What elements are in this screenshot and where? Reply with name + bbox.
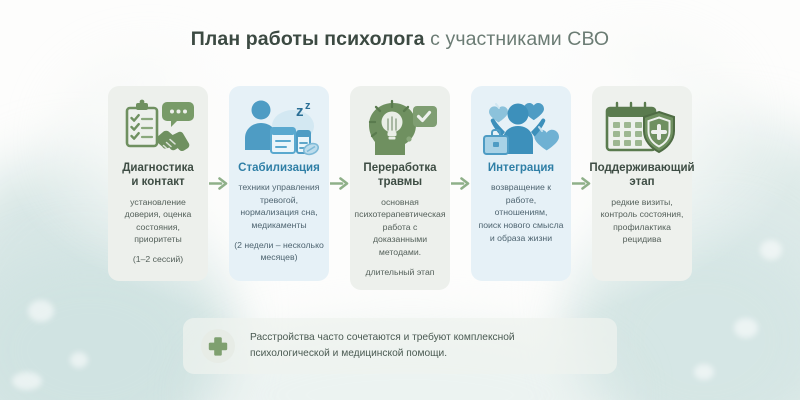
footer-note-line1: Расстройства часто сочетаются и требуют … <box>250 330 515 346</box>
svg-text:z: z <box>296 103 304 120</box>
arrow-right-icon <box>208 86 229 281</box>
calendar-shield-plus-icon <box>596 96 688 158</box>
stage-card-description: возвращение к работе,отношениям,поиск но… <box>476 181 566 244</box>
stage-card-title: Стабилизация <box>237 161 321 175</box>
page-title: План работы психолога с участниками СВО <box>0 28 800 51</box>
stage-card-description: установлениедоверия, оценкасостояния, пр… <box>113 196 203 246</box>
stage-card-row: Диагностикаи контакт установлениедоверия… <box>108 86 694 291</box>
stage-card-note: длительный этап <box>366 266 435 279</box>
footer-note-banner: Расстройства часто сочетаются и требуют … <box>183 318 617 374</box>
clipboard-checklist-handshake-icon <box>112 96 204 158</box>
stage-card-description: техники управлениятревогой,нормализация … <box>238 181 321 231</box>
head-lightbulb-check-icon <box>354 96 446 158</box>
stage-card-title: Переработкатравмы <box>362 161 437 190</box>
stage-card-diagnostika[interactable]: Диагностикаи контакт установлениедоверия… <box>108 86 208 281</box>
stage-card-note: (2 недели – несколькомесяцев) <box>234 239 324 264</box>
svg-text:z: z <box>305 100 311 112</box>
footer-note-text: Расстройства часто сочетаются и требуют … <box>250 330 515 362</box>
stage-card-pererabotka-travmy[interactable]: Переработкатравмы основнаяпсихотерапевти… <box>350 86 450 290</box>
person-arms-up-hearts-briefcase-icon <box>475 96 567 158</box>
footer-note-line2: психологической и медицинской помощи. <box>250 346 515 362</box>
arrow-right-icon <box>329 86 350 281</box>
page-title-strong: План работы психолога <box>191 28 425 50</box>
stage-card-podderzhivayushchiy-etap[interactable]: Поддерживающийэтап редкие визиты,контрол… <box>592 86 692 281</box>
stage-card-title: Поддерживающийэтап <box>588 161 695 190</box>
stage-card-note: (1–2 сессий) <box>133 253 183 266</box>
person-sleep-medication-icon: z z <box>233 96 325 158</box>
arrow-right-icon <box>450 86 471 281</box>
stage-card-title: Интеграция <box>487 161 555 175</box>
page-title-light: с участниками СВО <box>430 28 609 50</box>
stage-card-stabilizatsiya[interactable]: z z Стабилизация техники управлениятрево… <box>229 86 329 281</box>
stage-card-title: Диагностикаи контакт <box>121 161 195 190</box>
stage-card-description: основнаяпсихотерапевтическаяработа с док… <box>353 196 446 259</box>
stage-card-integratsiya[interactable]: Интеграция возвращение к работе,отношени… <box>471 86 571 281</box>
medical-cross-icon <box>201 329 235 363</box>
stage-card-description: редкие визиты,контроль состояния,профила… <box>600 196 685 246</box>
